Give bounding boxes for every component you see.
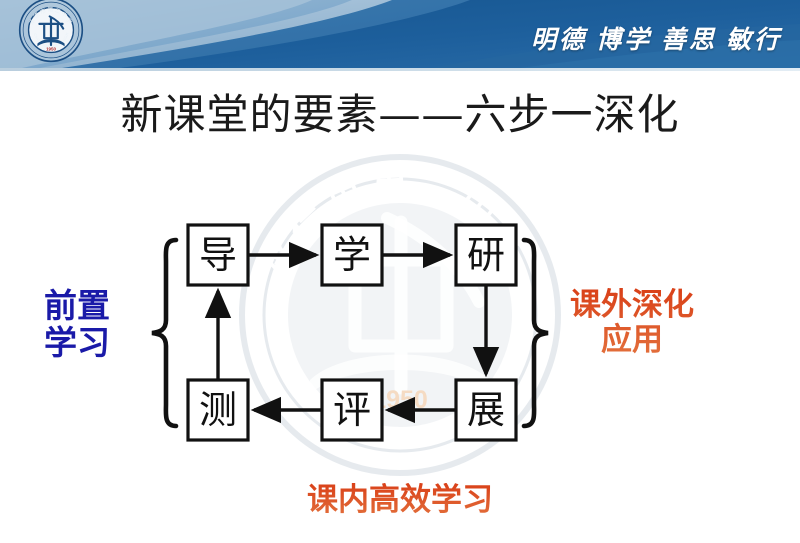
motto-part-3: 善思 [661,25,717,54]
slide-title: 新课堂的要素——六步一深化 [0,90,800,140]
brace-left [152,240,176,426]
banner-underline [0,68,800,71]
label-extracurricular-deepening: 课外深化 应用 [570,288,694,357]
node-xue: 学 [322,225,382,285]
node-yan-label: 研 [467,233,505,277]
motto-part-2: 博学 [596,25,652,54]
node-ce-label: 测 [199,388,237,432]
node-yan: 研 [456,225,516,285]
brace-right [524,240,548,426]
label-in-class-efficient-learning: 课内高效学习 [0,483,800,518]
label-right-line1: 课外深化 [570,288,694,323]
node-zhan-label: 展 [467,388,505,432]
node-ping: 评 [322,380,382,440]
label-pre-class-learning: 前置 学习 [44,288,110,362]
motto-part-4: 敏行 [726,25,782,54]
svg-text:1950: 1950 [46,46,56,51]
header-banner: 承德市第二中学 CHENGDE NO.2 HIGH SCHOOL 1950 明德… [0,0,800,68]
slide-root: 承德市第二中学 CHENGDE NO.2 HIGH SCHOOL 1950 明德… [0,0,800,543]
label-left-line1: 前置 [44,288,110,325]
school-logo-icon: 承德市第二中学 CHENGDE NO.2 HIGH SCHOOL 1950 [17,0,85,64]
motto-part-1: 明德 [531,25,587,54]
node-ping-label: 评 [333,388,371,432]
node-dao: 导 [188,225,248,285]
node-ce: 测 [188,380,248,440]
node-xue-label: 学 [333,233,371,277]
node-zhan: 展 [456,380,516,440]
node-dao-label: 导 [199,233,237,277]
label-right-line2: 应用 [570,323,694,358]
label-left-line2: 学习 [44,325,110,362]
school-motto: 明德博学善思敏行 [531,20,782,56]
